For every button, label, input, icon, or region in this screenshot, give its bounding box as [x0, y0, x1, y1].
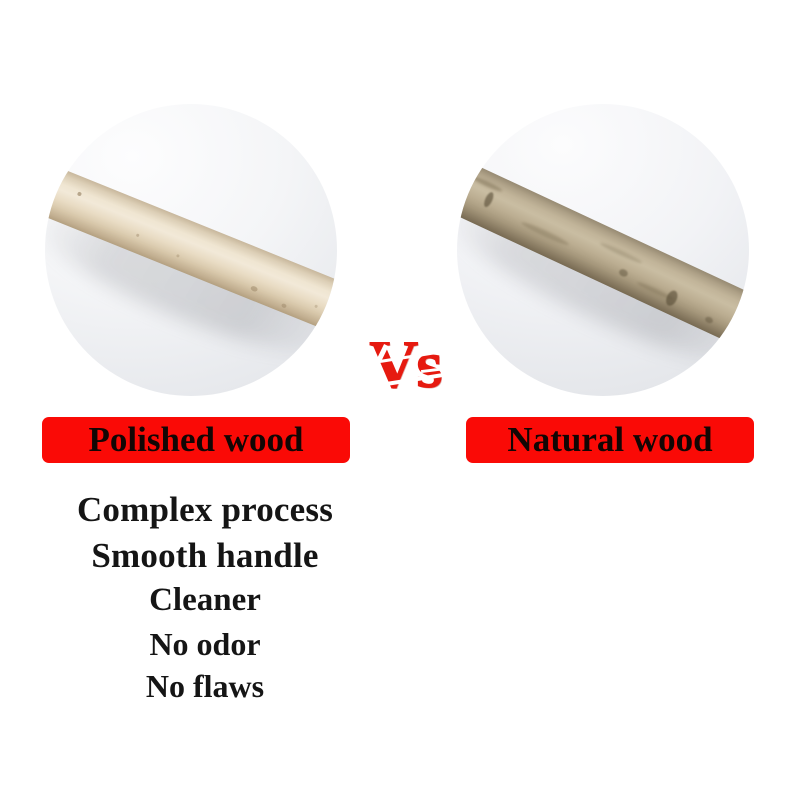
wood-speck	[135, 233, 139, 237]
feature-item: No odor	[20, 623, 390, 665]
wood-speck	[76, 191, 81, 196]
wood-blemish	[664, 289, 680, 308]
comparison-graphic: Vs Polished wood Natural wood Complex pr…	[0, 0, 800, 800]
polished-wood-photo	[45, 104, 337, 396]
wood-blemish	[482, 191, 495, 208]
feature-item: Smooth handle	[20, 533, 390, 579]
feature-item: Cleaner	[20, 579, 390, 623]
wood-grain	[521, 219, 571, 246]
wood-speck	[281, 302, 287, 308]
wood-grain	[599, 241, 643, 265]
wood-blemish	[704, 315, 714, 324]
feature-list: Complex process Smooth handle Cleaner No…	[20, 487, 390, 707]
vs-grunge-mark	[421, 366, 455, 373]
vs-grunge-mark	[374, 344, 388, 366]
wood-speck	[314, 304, 318, 308]
natural-wood-photo	[457, 104, 749, 396]
feature-item: No flaws	[20, 665, 390, 707]
versus-badge: Vs	[349, 324, 461, 404]
feature-item: Complex process	[20, 487, 390, 533]
stick-end-cap	[457, 153, 459, 206]
vs-grunge-mark	[419, 347, 441, 352]
wood-blemish	[617, 268, 628, 278]
natural-wood-label: Natural wood	[466, 417, 754, 463]
dowel-end-cap	[45, 160, 49, 211]
wood-speck	[176, 253, 180, 257]
wood-grain	[470, 174, 503, 193]
wood-speck	[250, 285, 258, 292]
polished-wood-label: Polished wood	[42, 417, 350, 463]
